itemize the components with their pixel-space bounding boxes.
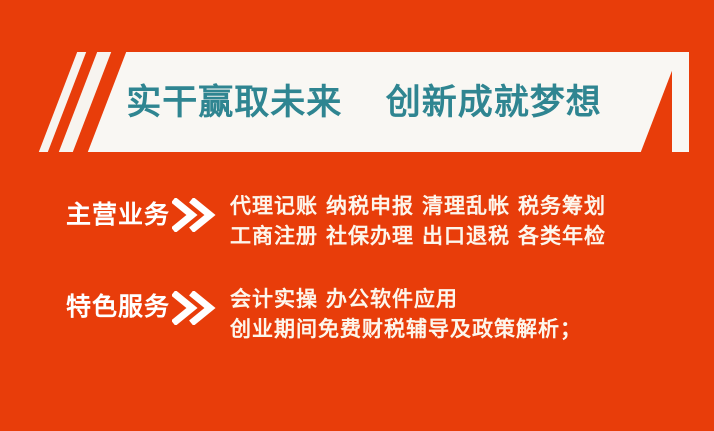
banner-white-panel xyxy=(88,52,679,152)
service-item: 各类年检 xyxy=(518,225,606,248)
promo-poster: 实干赢取未来 创新成就梦想 主营业务 代理记账纳税申报清理乱 xyxy=(0,0,714,431)
service-item: 出口退税 xyxy=(422,225,510,248)
section-label-text: 特色服务 xyxy=(66,295,170,320)
vertical-bar-icon xyxy=(672,52,689,152)
item-line: 会计实操办公软件应用 xyxy=(230,285,582,315)
item-line: 代理记账纳税申报清理乱帐税务筹划 xyxy=(230,192,606,222)
section-label-text: 主营业务 xyxy=(66,203,170,228)
section-label-main-business: 主营业务 xyxy=(66,190,218,232)
service-item: 纳税申报 xyxy=(326,195,414,218)
service-item: 清理乱帐 xyxy=(422,195,510,218)
service-item: 代理记账 xyxy=(230,195,318,218)
section-items-main-business: 代理记账纳税申报清理乱帐税务筹划 工商注册社保办理出口退税各类年检 xyxy=(230,190,606,253)
section-label-featured-service: 特色服务 xyxy=(66,283,218,325)
section-items-featured-service: 会计实操办公软件应用 创业期间免费财税辅导及政策解析； xyxy=(230,283,582,346)
service-item: 办公软件应用 xyxy=(326,288,458,311)
item-line: 创业期间免费财税辅导及政策解析； xyxy=(230,315,582,345)
double-chevron-right-icon xyxy=(172,291,218,325)
service-item: 税务筹划 xyxy=(518,195,606,218)
service-item: 社保办理 xyxy=(326,225,414,248)
section-main-business: 主营业务 代理记账纳税申报清理乱帐税务筹划 工商注册社保办理出口退税各类年检 xyxy=(0,190,714,253)
service-item: 创业期间免费财税辅导及政策解析； xyxy=(230,318,582,341)
item-line: 工商注册社保办理出口退税各类年检 xyxy=(230,222,606,252)
service-sections: 主营业务 代理记账纳税申报清理乱帐税务筹划 工商注册社保办理出口退税各类年检 xyxy=(0,190,714,346)
service-item: 会计实操 xyxy=(230,288,318,311)
headline-banner: 实干赢取未来 创新成就梦想 xyxy=(0,52,714,152)
service-item: 工商注册 xyxy=(230,225,318,248)
section-featured-service: 特色服务 会计实操办公软件应用 创业期间免费财税辅导及政策解析； xyxy=(0,283,714,346)
double-chevron-right-icon xyxy=(172,198,218,232)
